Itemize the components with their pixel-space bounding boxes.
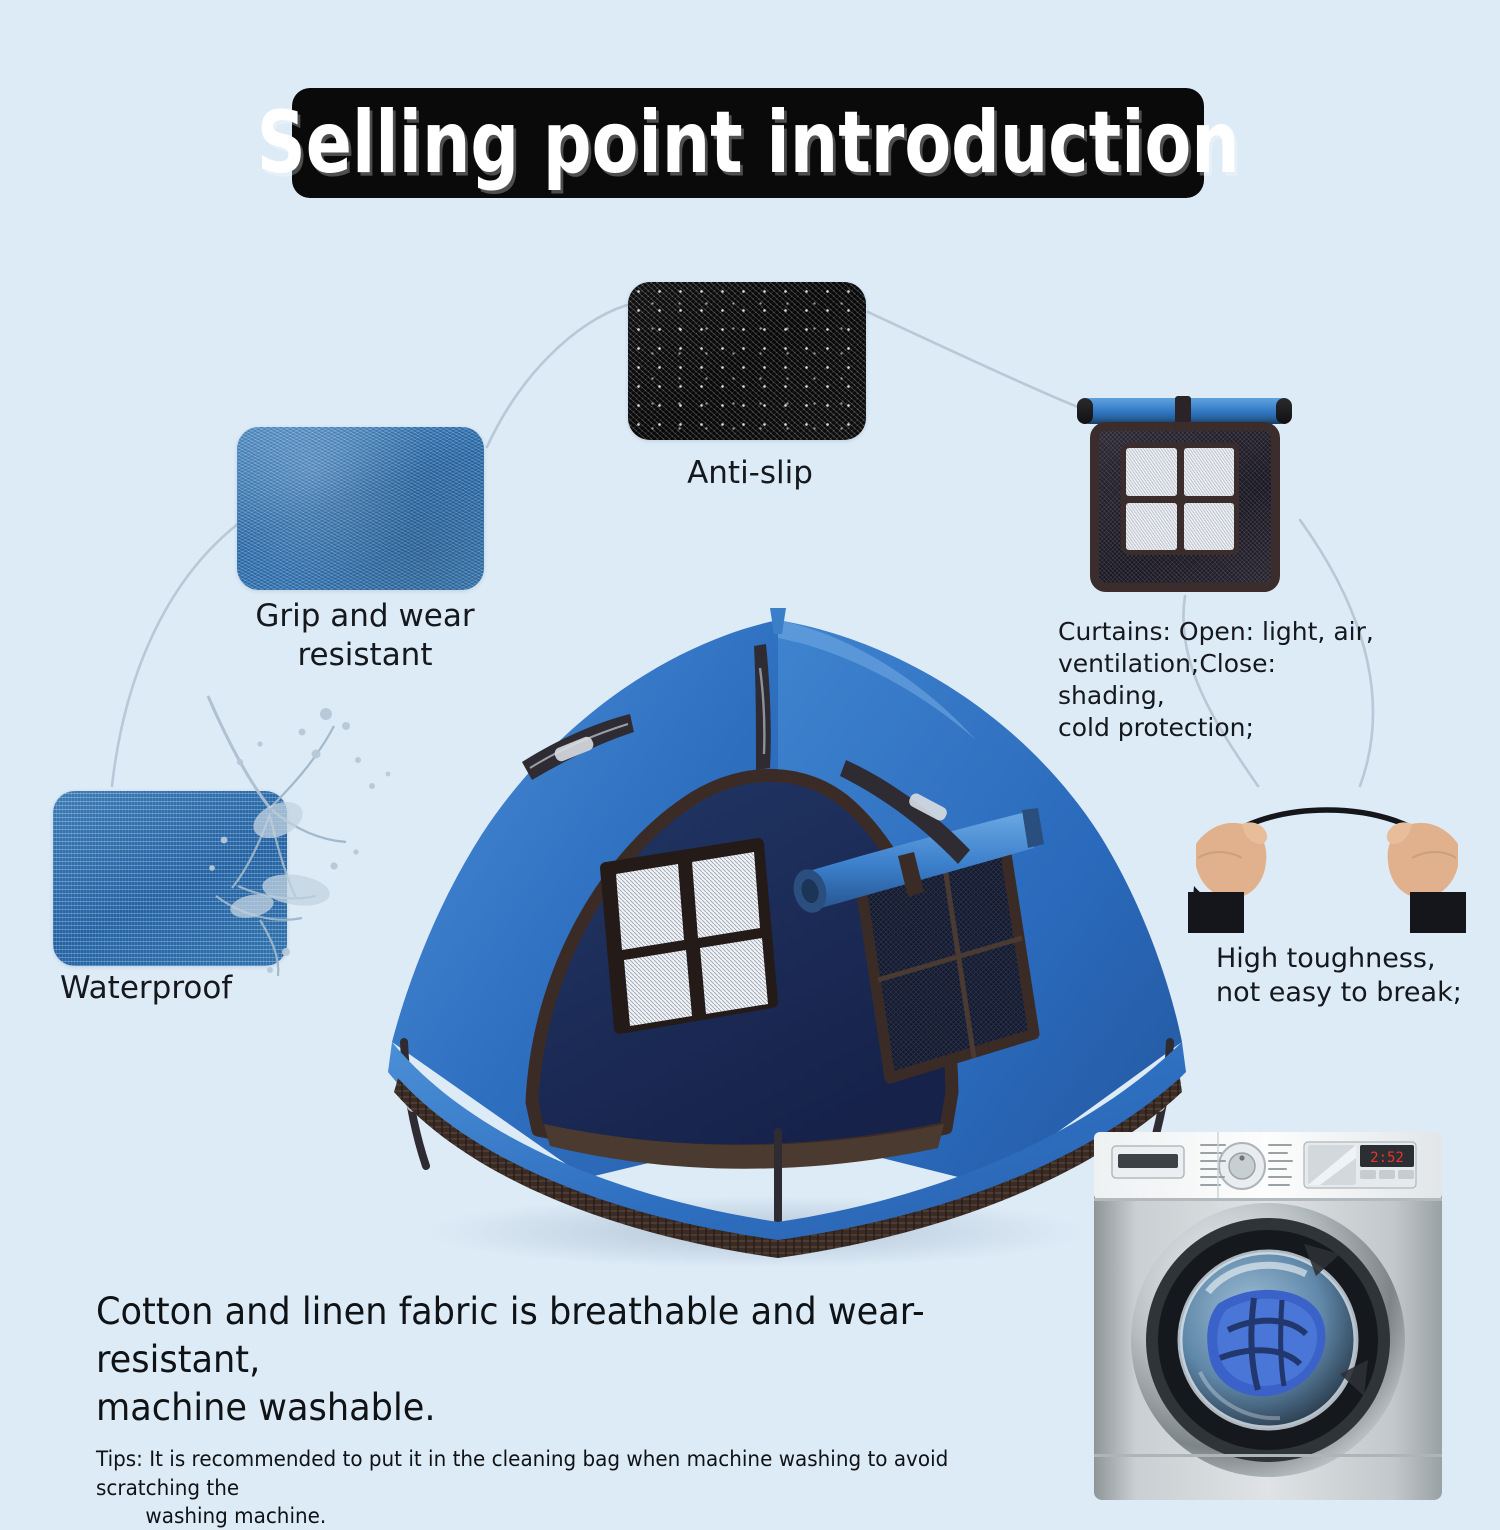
page-title-banner: Selling point introduction <box>292 88 1204 198</box>
footer-tip: Tips: It is recommended to put it in the… <box>96 1445 989 1530</box>
curtain-roll-end-left <box>1077 398 1093 424</box>
grip-and-wear-swatch <box>237 427 484 590</box>
footer-headline: Cotton and linen fabric is breathable an… <box>96 1288 989 1432</box>
window-pane <box>1184 448 1235 496</box>
right-sleeve <box>1410 892 1466 933</box>
footer-tip-line-1: Tips: It is recommended to put it in the… <box>96 1447 948 1499</box>
infographic-canvas: Selling point introduction Anti-slip Gri… <box>0 0 1500 1500</box>
footer-headline-line-2: machine washable. <box>96 1386 436 1429</box>
tough-label-line-1: High toughness, <box>1216 943 1436 974</box>
rolled-curtain <box>1077 398 1292 424</box>
anti-slip-swatch <box>628 282 866 440</box>
curtain-window-grid <box>1121 443 1239 555</box>
display-value: 2:52 <box>1370 1150 1404 1166</box>
left-hand <box>1188 822 1267 933</box>
display-buttons <box>1360 1170 1414 1179</box>
window-pane <box>1126 503 1177 551</box>
mesh-curtain-panel <box>1090 422 1280 592</box>
curtain-roll-end-right <box>1276 398 1292 424</box>
tent-mesh-window <box>606 844 772 1028</box>
pet-tent-product-image <box>286 572 1196 1272</box>
page-title: Selling point introduction <box>256 93 1239 193</box>
window-pane <box>692 852 760 938</box>
waterproof-swatch <box>53 791 287 966</box>
high-toughness-label: High toughness, not easy to break; <box>1216 942 1476 1010</box>
footer-tip-line-2: washing machine. <box>96 1502 989 1530</box>
curtain-panel-photo <box>1072 398 1297 593</box>
footer-copy: Cotton and linen fabric is breathable an… <box>96 1288 1036 1530</box>
tough-label-line-2: not easy to break; <box>1216 977 1462 1008</box>
washing-machine-photo: 2:52 <box>1068 1124 1468 1500</box>
window-pane <box>1184 503 1235 551</box>
window-pane <box>616 864 684 950</box>
window-pane <box>1126 448 1177 496</box>
window-pane <box>700 938 768 1014</box>
anti-slip-label: Anti-slip <box>640 455 860 492</box>
drawer-handle <box>1118 1154 1178 1168</box>
anti-slip-texture <box>628 282 866 440</box>
right-hand <box>1387 822 1466 933</box>
waterproof-label: Waterproof <box>60 970 320 1007</box>
window-pane <box>624 950 692 1026</box>
footer-headline-line-1: Cotton and linen fabric is breathable an… <box>96 1290 925 1381</box>
pole-toughness-photo <box>1186 788 1468 933</box>
